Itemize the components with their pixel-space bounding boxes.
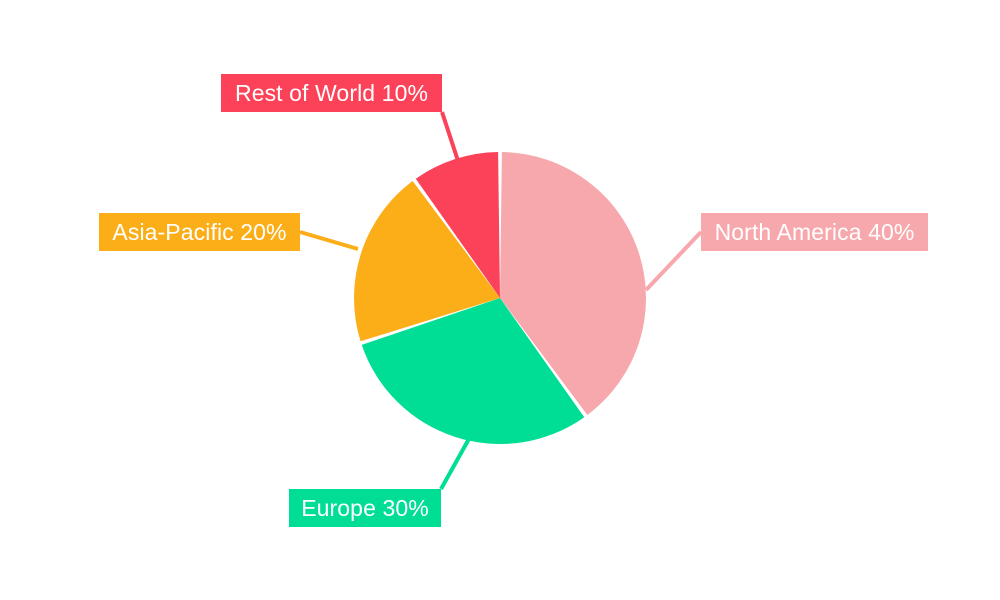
pie-label-rest-of-world[interactable]: Rest of World 10%	[221, 74, 442, 112]
pie-label-asia-pacific[interactable]: Asia-Pacific 20%	[99, 213, 300, 251]
pie-label-europe[interactable]: Europe 30%	[289, 489, 441, 527]
pie-label-europe-text: Europe 30%	[301, 497, 429, 520]
pie-slices	[354, 152, 646, 444]
pie-label-north-america[interactable]: North America 40%	[701, 213, 928, 251]
leader-line-asia-pacific	[300, 232, 358, 249]
pie-label-north-america-text: North America 40%	[715, 221, 915, 244]
pie-label-asia-pacific-text: Asia-Pacific 20%	[112, 221, 286, 244]
pie-chart-canvas	[0, 0, 1000, 600]
leader-line-europe	[441, 437, 470, 489]
pie-chart-figure: North America 40% Europe 30% Asia-Pacifi…	[0, 0, 1000, 600]
pie-label-rest-of-world-text: Rest of World 10%	[235, 82, 428, 105]
leader-line-north-america	[646, 232, 701, 290]
